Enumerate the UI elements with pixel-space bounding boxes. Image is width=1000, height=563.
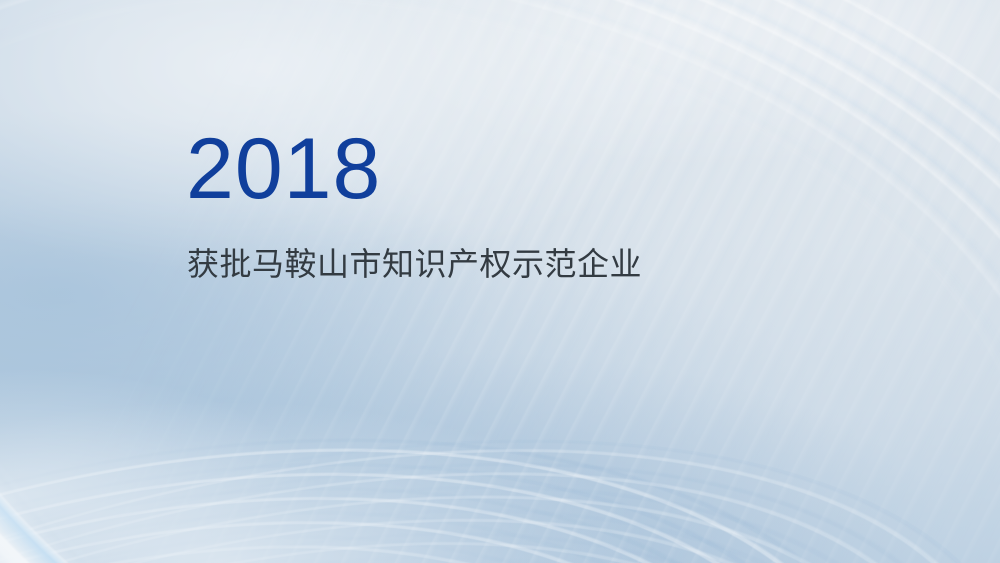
slide-subtitle: 获批马鞍山市知识产权示范企业 [187,246,642,284]
slide-content: 2018 获批马鞍山市知识产权示范企业 [186,0,946,563]
presentation-slide: 2018 获批马鞍山市知识产权示范企业 [0,0,1000,563]
year-heading: 2018 [186,126,381,212]
